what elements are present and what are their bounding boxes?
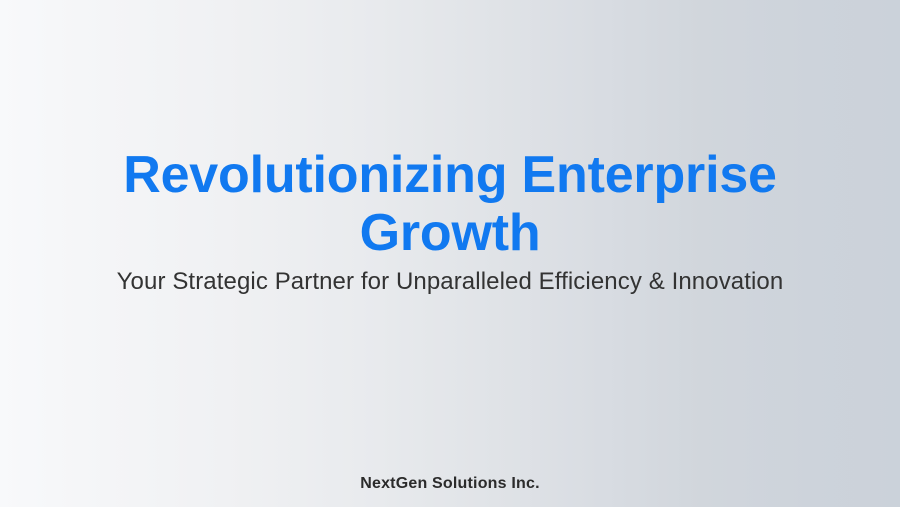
slide-footer: NextGen Solutions Inc.	[0, 473, 900, 495]
page-title: Revolutionizing Enterprise Growth	[60, 146, 840, 262]
title-slide: Revolutionizing Enterprise Growth Your S…	[0, 0, 900, 507]
slide-subtitle: Your Strategic Partner for Unparalleled …	[60, 262, 840, 298]
title-block: Revolutionizing Enterprise Growth Your S…	[0, 146, 900, 298]
company-name: NextGen Solutions Inc.	[0, 473, 900, 495]
